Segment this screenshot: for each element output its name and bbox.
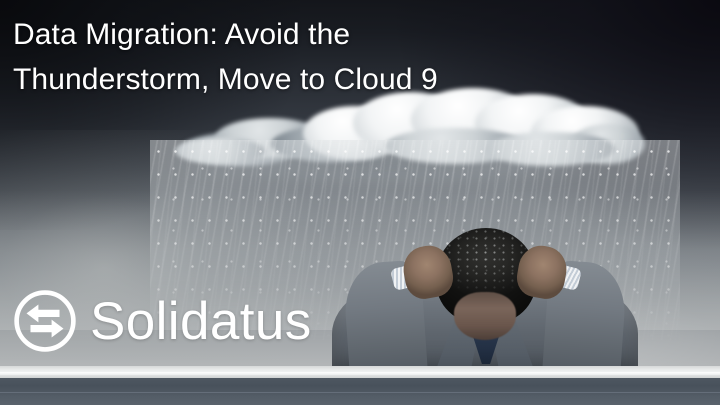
solidatus-circular-exchange-arrows-icon	[12, 288, 78, 354]
slide-title-line-1: Data Migration: Avoid the	[13, 12, 613, 57]
desk-edge-highlight	[0, 372, 720, 375]
presentation-slide: Data Migration: Avoid the Thunderstorm, …	[0, 0, 720, 405]
desk-front-seam	[0, 392, 720, 393]
solidatus-logo: Solidatus	[12, 288, 312, 354]
stressed-businessman-figure	[332, 228, 638, 376]
slide-title-line-2: Thunderstorm, Move to Cloud 9	[13, 57, 613, 102]
solidatus-wordmark: Solidatus	[90, 295, 312, 348]
slide-title: Data Migration: Avoid the Thunderstorm, …	[13, 12, 613, 102]
face	[454, 292, 516, 340]
